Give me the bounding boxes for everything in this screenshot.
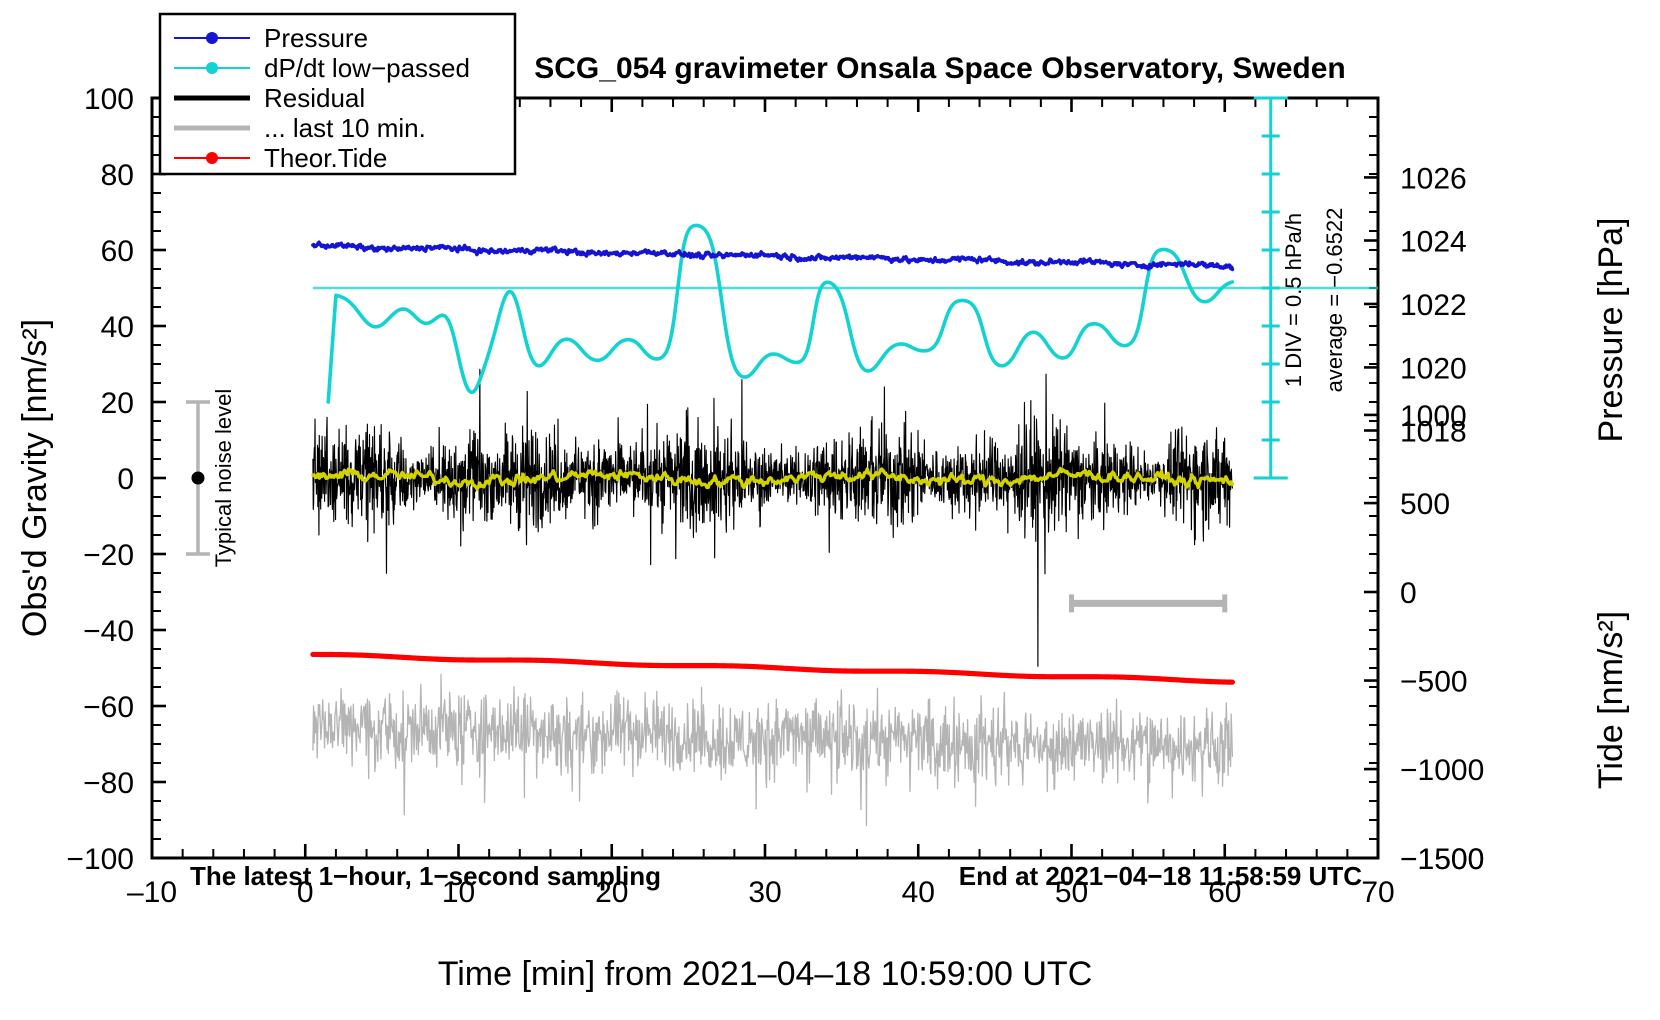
chart-title: SCG_054 gravimeter Onsala Space Observat…: [534, 52, 1346, 85]
y-tick-label: −80: [83, 767, 134, 800]
y-tick-label: 100: [84, 83, 134, 116]
pressure-tick-label: 1020: [1400, 352, 1467, 385]
legend-item-label: dP/dt low−passed: [264, 53, 470, 83]
tide-tick-label: 1000: [1400, 400, 1467, 433]
noise-level-label: Typical noise level: [211, 389, 236, 568]
div-scale-note: 1 DIV = 0.5 hPa/h: [1281, 213, 1306, 387]
tide-tick-label: 0: [1400, 577, 1417, 610]
y-tick-label: −40: [83, 615, 134, 648]
legend-marker-dot: [206, 62, 218, 74]
legend-item-label: Residual: [264, 83, 365, 113]
sampling-note: The latest 1−hour, 1−second sampling: [190, 861, 661, 891]
legend-item-label: Theor.Tide: [264, 143, 387, 173]
chart-canvas: ‒10010203040506070−100−80−60−40−20020406…: [0, 0, 1660, 1020]
gravimeter-plot: ‒10010203040506070−100−80−60−40−20020406…: [0, 0, 1660, 1020]
pressure-tick-label: 1026: [1400, 162, 1467, 195]
noise-level-dot: [191, 472, 204, 485]
x-axis-title: Time [min] from 2021‒04‒18 10:59:00 UTC: [438, 955, 1093, 993]
y-tick-label: 0: [117, 463, 134, 496]
x-tick-label: 30: [748, 876, 781, 909]
legend-marker-dot: [206, 32, 218, 44]
pressure-axis-title: Pressure [hPa]: [1592, 218, 1630, 443]
legend-item-label: ... last 10 min.: [264, 113, 426, 143]
tide-tick-label: 500: [1400, 488, 1450, 521]
y-tick-label: 20: [101, 387, 134, 420]
y-axis-title: Obs'd Gravity [nm/s²]: [16, 319, 54, 637]
pressure-tick-label: 1022: [1400, 289, 1467, 322]
end-time-note: End at 2021−04−18 11:58:59 UTC: [959, 861, 1362, 891]
x-tick-label: 40: [902, 876, 935, 909]
y-tick-label: −60: [83, 691, 134, 724]
y-tick-label: 80: [101, 159, 134, 192]
dpdt-average-note: average = −0.6522: [1322, 208, 1347, 393]
x-tick-label: ‒10: [127, 876, 177, 909]
tide-axis-title: Tide [nm/s²]: [1592, 611, 1630, 789]
y-tick-label: 40: [101, 311, 134, 344]
legend-item-label: Pressure: [264, 23, 368, 53]
legend-marker-dot: [206, 152, 218, 164]
tide-tick-label: −1000: [1400, 754, 1484, 787]
y-tick-label: 60: [101, 235, 134, 268]
tide-tick-label: −1500: [1400, 843, 1484, 876]
pressure-tick-label: 1024: [1400, 226, 1467, 259]
y-tick-label: −20: [83, 539, 134, 572]
tide-tick-label: −500: [1400, 666, 1468, 699]
x-tick-label: 70: [1361, 876, 1394, 909]
y-tick-label: −100: [66, 843, 134, 876]
